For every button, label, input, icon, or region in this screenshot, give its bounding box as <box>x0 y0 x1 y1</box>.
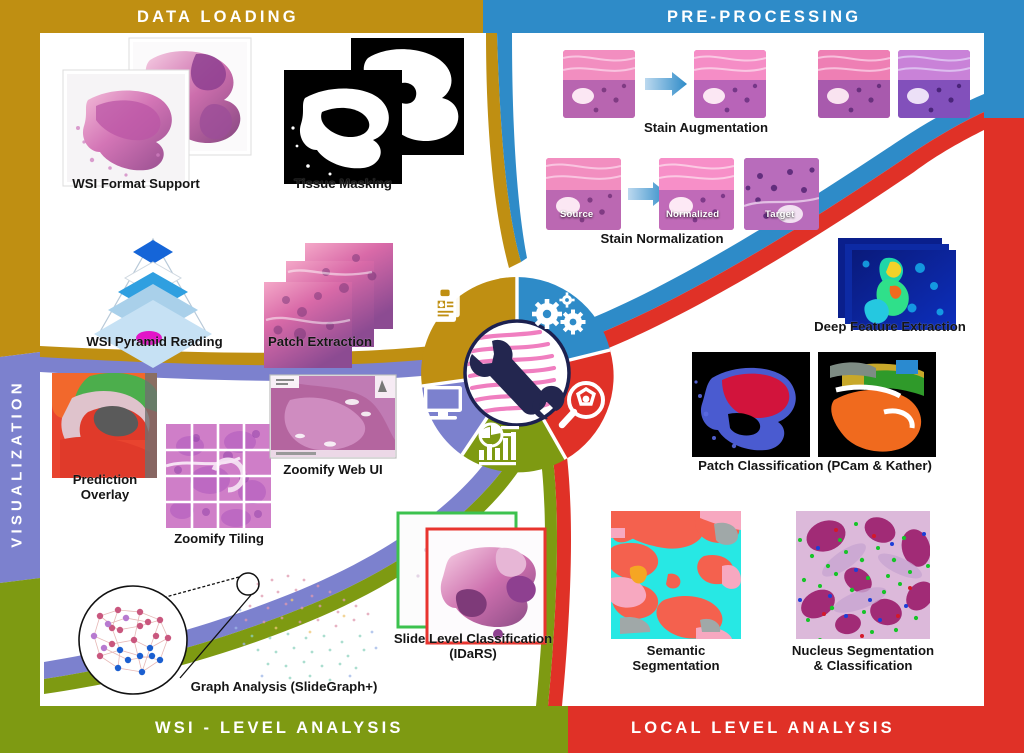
label-target: Target <box>765 209 795 220</box>
band-title-pre-processing: PRE-PROCESSING <box>667 8 861 27</box>
wsi-slide-thumbnails <box>63 38 251 186</box>
caption-zoomify-web-ui: Zoomify Web UI <box>266 463 400 478</box>
caption-patch-classification: Patch Classification (PCam & Kather) <box>675 459 955 474</box>
caption-deep-feature-extraction: Deep Feature Extraction <box>800 320 980 335</box>
caption-tissue-masking: Tissue Masking <box>268 177 418 192</box>
caption-slide-level-classification: Slide Level Classification (IDaRS) <box>378 632 568 661</box>
stain-augmentation-strip <box>563 50 970 118</box>
band-title-wsi-level: WSI - LEVEL ANALYSIS <box>155 719 404 738</box>
caption-prediction-overlay: Prediction Overlay <box>48 473 162 502</box>
band-title-visualization: VISUALIZATION <box>9 379 26 547</box>
caption-graph-analysis: Graph Analysis (SlideGraph+) <box>165 680 403 695</box>
clipboard-report-icon <box>434 289 460 322</box>
caption-stain-normalization: Stain Normalization <box>550 232 774 247</box>
patch-classification-pair <box>692 352 936 457</box>
caption-patch-extraction: Patch Extraction <box>245 335 395 350</box>
slide-pair-thumb <box>398 513 545 643</box>
semantic-segmentation-map <box>605 511 741 639</box>
feature-map-stack <box>838 238 956 330</box>
nucleus-map <box>796 511 940 646</box>
diagram-canvas: DATA LOADING PRE-PROCESSING WSI - LEVEL … <box>0 0 1024 753</box>
caption-semantic-segmentation: Semantic Segmentation <box>602 644 750 673</box>
prediction-overlay-thumb <box>52 373 157 478</box>
caption-wsi-pyramid-reading: WSI Pyramid Reading <box>72 335 237 350</box>
band-title-local-level: LOCAL LEVEL ANALYSIS <box>631 719 895 738</box>
label-normalized: Normalized <box>666 209 719 220</box>
caption-wsi-format-support: WSI Format Support <box>56 177 216 192</box>
caption-nucleus-segmentation: Nucleus Segmentation & Classification <box>780 644 946 673</box>
tiling-grid-thumb <box>166 424 271 528</box>
band-title-data-loading: DATA LOADING <box>137 8 299 27</box>
caption-stain-augmentation: Stain Augmentation <box>591 121 821 136</box>
label-source: Source <box>560 209 593 220</box>
web-ui-screenshot <box>270 375 396 458</box>
arrow-augment <box>645 72 687 96</box>
binary-mask-thumbnails <box>284 38 464 184</box>
caption-zoomify-tiling: Zoomify Tiling <box>157 532 281 547</box>
